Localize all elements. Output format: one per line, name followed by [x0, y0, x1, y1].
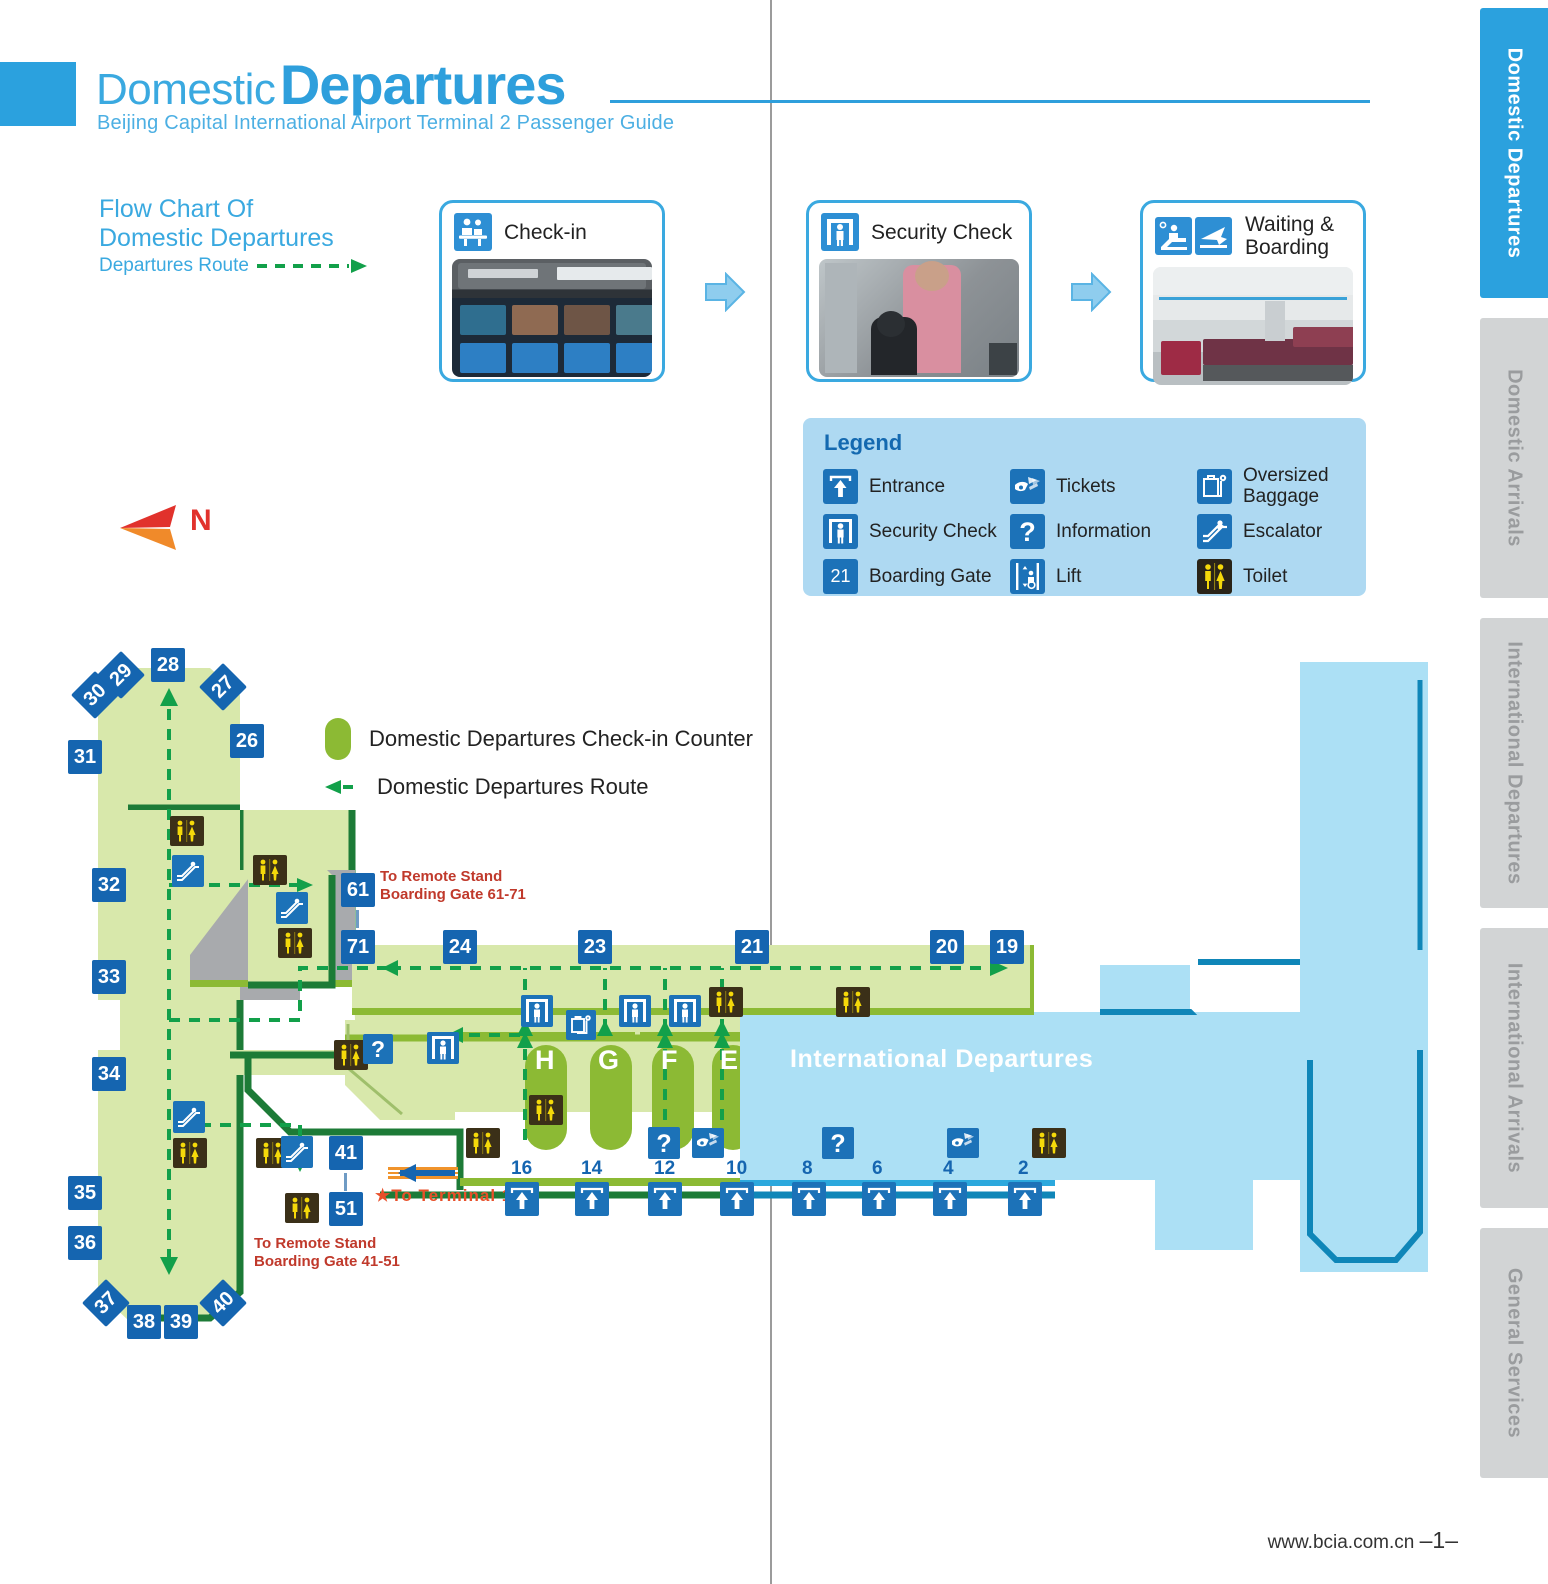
information-icon: ? [363, 1034, 393, 1064]
terminal-map[interactable]: 30 29 28 27 26 31 32 33 34 35 36 37 38 3… [0, 620, 1448, 1360]
gate-badge-26[interactable]: 26 [230, 724, 264, 758]
gate-badge-24[interactable]: 24 [443, 930, 477, 964]
compass-north-label: N [190, 504, 212, 538]
gate-badge-35[interactable]: 35 [68, 1176, 102, 1210]
concourse-letter-H: H [535, 1045, 555, 1076]
flow-step-label: Waiting &Boarding [1245, 213, 1334, 259]
waiting-area-icon [1155, 217, 1192, 255]
security-check-icon [619, 995, 651, 1027]
entrance-number-14: 14 [581, 1158, 602, 1180]
flow-route-legend: Departures Route [99, 255, 367, 277]
concourse-letter-E: E [720, 1045, 738, 1076]
legend-item-information: ? Information [1010, 509, 1185, 553]
flow-step-header: Check-in [442, 203, 662, 257]
gate-badge-32[interactable]: 32 [92, 868, 126, 902]
svg-text:?: ? [1019, 517, 1036, 547]
svg-text:?: ? [830, 1130, 845, 1158]
toilet-icon [1032, 1128, 1066, 1158]
gate-range-connector [356, 910, 359, 928]
information-icon: ? [822, 1127, 854, 1159]
flow-step-label: Security Check [871, 221, 1012, 244]
entrance-number-16: 16 [511, 1158, 532, 1180]
security-check-icon [427, 1032, 459, 1064]
legend-label: Toilet [1243, 566, 1287, 587]
svg-text:?: ? [371, 1036, 385, 1062]
waiting-boarding-icon [1155, 217, 1233, 255]
toilet-icon [466, 1128, 500, 1158]
entrance-icon [575, 1182, 609, 1216]
gate-badge-61[interactable]: 61 [341, 873, 375, 907]
legend-item-security-check: Security Check [823, 509, 998, 553]
security-check-photo [819, 259, 1019, 377]
gate-badge-38[interactable]: 38 [127, 1305, 161, 1339]
escalator-icon [173, 1101, 205, 1133]
dashed-arrow-icon [257, 259, 367, 273]
check-in-photo [452, 259, 652, 377]
footer-website: www.bcia.com.cn [1268, 1532, 1415, 1553]
security-check-icon [821, 213, 859, 251]
oversized-baggage-icon [1197, 469, 1232, 504]
legend-label: Information [1056, 521, 1151, 542]
toilet-icon [836, 987, 870, 1017]
page-title-light: Domestic [96, 65, 275, 114]
flow-arrow-2-icon [1068, 272, 1112, 312]
concourse-letter-F: F [661, 1045, 678, 1076]
toilet-icon [170, 816, 204, 846]
to-terminal-1-label: ★To Terminal 1 [375, 1186, 512, 1206]
entrance-number-10: 10 [726, 1158, 747, 1180]
entrance-icon [720, 1182, 754, 1216]
escalator-icon [172, 855, 204, 887]
oversized-baggage-icon [566, 1010, 596, 1040]
flow-step-security-check: Security Check [806, 200, 1032, 382]
compass-rose: N [118, 500, 228, 555]
footer: www.bcia.com.cn –1– [1268, 1527, 1458, 1554]
legend-item-oversized-baggage: OversizedBaggage [1197, 464, 1372, 508]
gate-badge-71[interactable]: 71 [341, 930, 375, 964]
boarding-gate-icon: 21 [823, 559, 858, 594]
legend-label: Boarding Gate [869, 566, 992, 587]
legend-label: OversizedBaggage [1243, 465, 1329, 507]
gate-badge-41[interactable]: 41 [329, 1136, 363, 1170]
flow-step-check-in: Check-in [439, 200, 665, 382]
flow-chart-title: Flow Chart OfDomestic Departures [99, 195, 334, 253]
escalator-icon [281, 1136, 313, 1168]
international-departures-area-label: International Departures [790, 1045, 1093, 1074]
footer-page-number: –1– [1420, 1527, 1458, 1553]
flow-arrow-1-icon [702, 272, 746, 312]
escalator-icon [1197, 514, 1232, 549]
remote-stand-note-61-71: To Remote StandBoarding Gate 61-71 [380, 868, 526, 904]
legend-label: Escalator [1243, 521, 1322, 542]
waiting-boarding-photo [1153, 267, 1353, 385]
flow-step-label: Check-in [504, 221, 587, 244]
legend-item-escalator: Escalator [1197, 509, 1372, 553]
escalator-icon [276, 892, 308, 924]
sidebar-tab-label: International Arrivals [1503, 963, 1526, 1173]
toilet-icon [285, 1193, 319, 1223]
legend-label: Security Check [869, 521, 997, 542]
entrance-icon [933, 1182, 967, 1216]
legend-title: Legend [824, 430, 902, 456]
entrance-icon [505, 1182, 539, 1216]
legend-label: Tickets [1056, 476, 1115, 497]
gate-badge-21[interactable]: 21 [735, 930, 769, 964]
information-icon: ? [1010, 514, 1045, 549]
gate-badge-33[interactable]: 33 [92, 960, 126, 994]
legend-item-entrance: Entrance [823, 464, 998, 508]
gate-badge-19[interactable]: 19 [990, 930, 1024, 964]
title-underline-rule [610, 100, 1370, 103]
legend-label: Entrance [869, 476, 945, 497]
toilet-icon [253, 855, 287, 885]
gate-badge-51[interactable]: 51 [329, 1192, 363, 1226]
gate-badge-34[interactable]: 34 [92, 1057, 126, 1091]
security-check-icon [823, 514, 858, 549]
entrance-icon [823, 469, 858, 504]
legend-item-boarding-gate: 21 Boarding Gate [823, 554, 998, 598]
entrance-icon [1008, 1182, 1042, 1216]
entrance-icon [792, 1182, 826, 1216]
legend-item-lift: Lift [1010, 554, 1185, 598]
entrance-number-2: 2 [1018, 1158, 1029, 1180]
svg-text:?: ? [656, 1130, 671, 1158]
sidebar-tab-general-services[interactable]: General Services [1480, 1228, 1548, 1478]
sidebar-tab-domestic-departures[interactable]: Domestic Departures [1480, 8, 1548, 298]
sidebar-tab-international-departures[interactable]: International Departures [1480, 618, 1548, 908]
gate-badge-31[interactable]: 31 [68, 740, 102, 774]
remote-stand-note-41-51: To Remote StandBoarding Gate 41-51 [254, 1235, 400, 1271]
tickets-icon [1010, 469, 1045, 504]
flow-step-header: Waiting &Boarding [1143, 203, 1363, 265]
boarding-gate-number: 21 [830, 566, 850, 587]
security-check-icon [669, 995, 701, 1027]
gate-badge-28[interactable]: 28 [151, 648, 185, 682]
flow-route-label: Departures Route [99, 255, 249, 277]
check-in-counter-icon [454, 213, 492, 251]
flow-step-header: Security Check [809, 203, 1029, 257]
gate-badge-23[interactable]: 23 [578, 930, 612, 964]
header-accent-block [0, 62, 76, 126]
gate-badge-39[interactable]: 39 [164, 1305, 198, 1339]
sidebar-tab-label: International Departures [1503, 641, 1526, 884]
information-icon: ? [648, 1127, 680, 1159]
page-subtitle: Beijing Capital International Airport Te… [97, 112, 674, 135]
entrance-number-4: 4 [943, 1158, 954, 1180]
sidebar-tab-domestic-arrivals[interactable]: Domestic Arrivals [1480, 318, 1548, 598]
lift-icon [1010, 559, 1045, 594]
toilet-icon [529, 1095, 563, 1125]
gate-badge-20[interactable]: 20 [930, 930, 964, 964]
legend-box: Legend Entrance Security Check 21 Boardi… [803, 418, 1366, 596]
page-title: Domestic Departures [96, 52, 566, 117]
sidebar-tab-international-arrivals[interactable]: International Arrivals [1480, 928, 1548, 1208]
tickets-icon [947, 1128, 979, 1158]
entrance-number-8: 8 [802, 1158, 813, 1180]
page-title-bold: Departures [280, 53, 566, 116]
gate-range-connector [344, 1173, 347, 1191]
sidebar-tab-label: Domestic Arrivals [1503, 369, 1526, 547]
toilet-icon [173, 1138, 207, 1168]
entrance-number-6: 6 [872, 1158, 883, 1180]
toilet-icon [709, 987, 743, 1017]
concourse-letter-G: G [598, 1045, 619, 1076]
legend-item-toilet: Toilet [1197, 554, 1372, 598]
flow-step-waiting-boarding: Waiting &Boarding [1140, 200, 1366, 382]
entrance-icon [648, 1182, 682, 1216]
toilet-icon [1197, 559, 1232, 594]
legend-item-tickets: Tickets [1010, 464, 1185, 508]
gate-badge-36[interactable]: 36 [68, 1226, 102, 1260]
legend-label: Lift [1056, 566, 1081, 587]
boarding-plane-icon [1195, 217, 1232, 255]
sidebar-tab-label: General Services [1503, 1268, 1526, 1438]
tickets-icon [692, 1128, 724, 1158]
toilet-icon [278, 928, 312, 958]
entrance-number-12: 12 [654, 1158, 675, 1180]
sidebar-tab-label: Domestic Departures [1503, 48, 1526, 259]
entrance-icon [862, 1182, 896, 1216]
security-check-icon [521, 995, 553, 1027]
